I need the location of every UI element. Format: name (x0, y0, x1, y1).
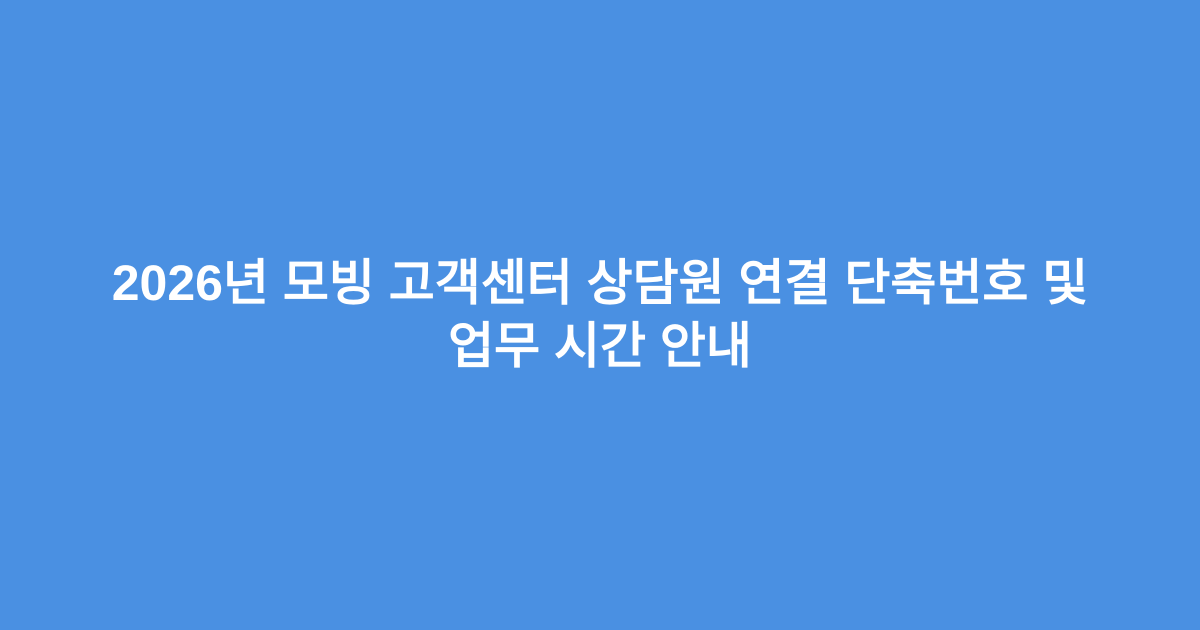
og-card-content: 2026년 모빙 고객센터 상담원 연결 단축번호 및 업무 시간 안내 (95, 252, 1105, 378)
page-title: 2026년 모빙 고객센터 상담원 연결 단축번호 및 업무 시간 안내 (95, 252, 1105, 378)
og-card-canvas: 2026년 모빙 고객센터 상담원 연결 단축번호 및 업무 시간 안내 (0, 0, 1200, 630)
